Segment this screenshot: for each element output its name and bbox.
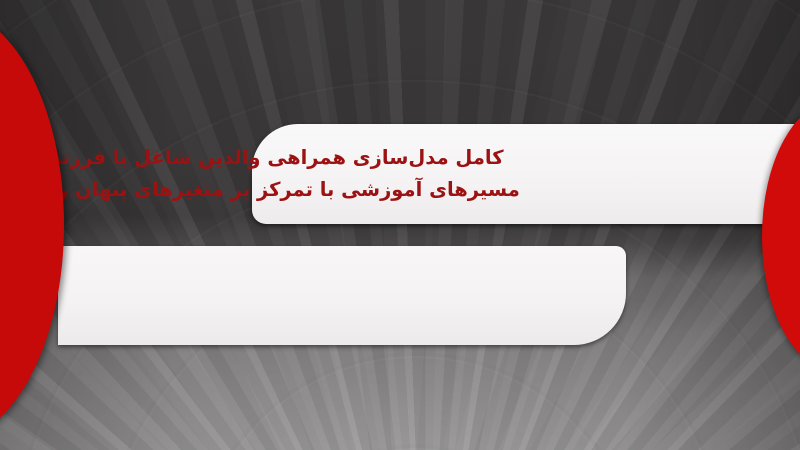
title-line-1: کامل مدل‌سازی همراهی والدین شاغل با فرزن…: [0, 142, 504, 174]
slide-subtitle: [58, 246, 626, 345]
title-line-2: مسیرهای آموزشی با تمرکز بر متغیرهای پنها…: [0, 174, 520, 206]
background-vignette: [0, 0, 800, 450]
slide-title: کامل مدل‌سازی همراهی والدین شاغل با فرزن…: [0, 124, 800, 224]
presentation-slide: کامل مدل‌سازی همراهی والدین شاغل با فرزن…: [0, 0, 800, 450]
